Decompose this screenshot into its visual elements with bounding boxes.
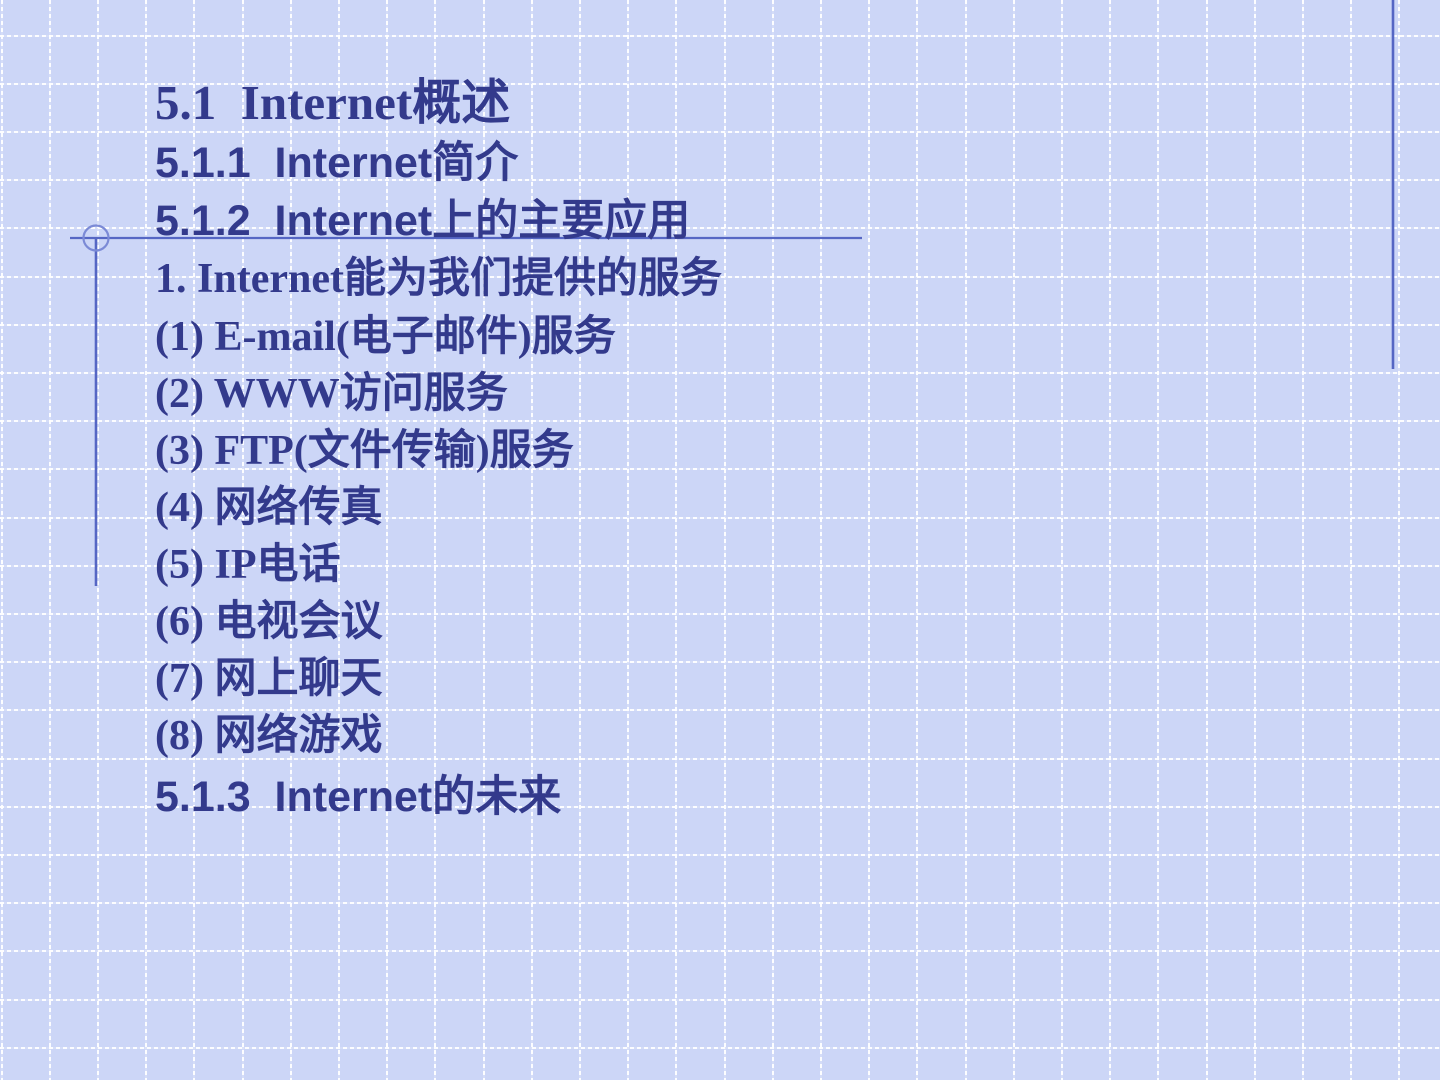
slide-canvas: 5.1 Internet概述 5.1.1 Internet简介 5.1.2 In… <box>0 0 1440 1080</box>
grid-line-vertical <box>49 0 51 1080</box>
slide-title: 5.1 Internet概述 <box>155 72 1335 134</box>
service-item-2: (2) WWW访问服务 <box>155 366 1335 423</box>
grid-line-horizontal <box>0 854 1440 856</box>
grid-line-horizontal <box>0 950 1440 952</box>
grid-line-horizontal <box>0 1047 1440 1049</box>
service-item-1: (1) E-mail(电子邮件)服务 <box>155 309 1335 366</box>
grid-line-horizontal <box>0 999 1440 1001</box>
grid-line-vertical <box>1398 0 1400 1080</box>
decorative-circle <box>84 226 109 251</box>
service-item-4: (4) 网络传真 <box>155 480 1335 537</box>
service-item-5: (5) IP电话 <box>155 537 1335 594</box>
subsection-5-1-2: 5.1.2 Internet上的主要应用 <box>155 192 1335 250</box>
subsection-5-1-1: 5.1.1 Internet简介 <box>155 134 1335 192</box>
grid-line-vertical <box>97 0 99 1080</box>
grid-line-horizontal <box>0 35 1440 37</box>
service-item-7: (7) 网上聊天 <box>155 651 1335 708</box>
grid-line-vertical <box>1350 0 1352 1080</box>
service-item-8: (8) 网络游戏 <box>155 708 1335 765</box>
services-heading: 1. Internet能为我们提供的服务 <box>155 250 1335 309</box>
service-item-3: (3) FTP(文件传输)服务 <box>155 423 1335 480</box>
service-item-6: (6) 电视会议 <box>155 594 1335 651</box>
subsection-5-1-3: 5.1.3 Internet的未来 <box>155 767 1335 827</box>
grid-line-horizontal <box>0 902 1440 904</box>
grid-line-vertical <box>145 0 147 1080</box>
grid-line-vertical <box>1 0 3 1080</box>
slide-text-block: 5.1 Internet概述 5.1.1 Internet简介 5.1.2 In… <box>155 72 1335 827</box>
